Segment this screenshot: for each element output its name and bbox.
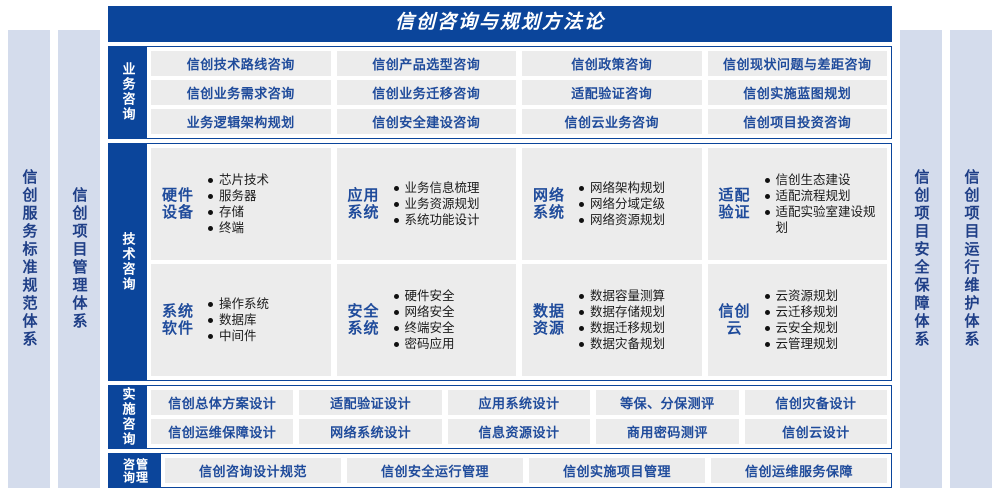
list-item[interactable]: 等保、分保测评 [596,390,738,415]
card-application-system[interactable]: 应用 系统 业务信息梳理 业务资源规划 系统功能设计 [337,148,517,260]
card-title: 信创 云 [714,303,756,338]
bullet-item: 网络安全 [393,304,511,320]
table-row: 业务逻辑架构规划 信创安全建设咨询 信创云业务咨询 信创项目投资咨询 [151,109,887,134]
card-title: 硬件 设备 [157,187,199,222]
pillar-service-standard-system: 信创服务标准规范体系 [8,30,50,488]
list-item[interactable]: 业务逻辑架构规划 [151,109,331,134]
bullet-item: 密码应用 [393,336,511,352]
card-title: 网络 系统 [528,187,570,222]
bullet-item: 硬件安全 [393,288,511,304]
card-system-software[interactable]: 系统 软件 操作系统 数据库 中间件 [151,264,331,376]
card-bullets: 业务信息梳理 业务资源规划 系统功能设计 [393,180,511,228]
bullet-item: 信创生态建设 [764,172,882,188]
card-network-system[interactable]: 网络 系统 网络架构规划 网络分域定级 网络资源规划 [522,148,702,260]
card-title-line1: 网络 [533,187,565,204]
list-item[interactable]: 网络系统设计 [299,419,441,444]
card-title-line2: 系统 [343,204,385,221]
pillar-project-security-system: 信创项目安全保障体系 [900,30,942,488]
bullet-item: 云安全规划 [764,320,882,336]
card-bullets: 硬件安全 网络安全 终端安全 密码应用 [393,288,511,352]
bullet-item: 云迁移规划 [764,304,882,320]
band-label-technical-consulting: 技术咨询 [109,144,147,380]
card-adaptation-verification[interactable]: 适配 验证 信创生态建设 适配流程规划 适配实验室建设规划 [708,148,888,260]
bullet-item: 网络分域定级 [578,196,696,212]
bullet-item: 数据库 [207,312,325,328]
bullet-item: 服务器 [207,188,325,204]
list-item[interactable]: 信创云业务咨询 [522,109,702,134]
list-item[interactable]: 信创运维保障设计 [151,419,293,444]
bullet-item: 数据迁移规划 [578,320,696,336]
band-body-consulting-management: 信创咨询设计规范 信创安全运行管理 信创实施项目管理 信创运维服务保障 [161,454,891,487]
pillar-project-management-system: 信创项目管理体系 [58,30,100,488]
band-business-consulting: 业务咨询 信创技术路线咨询 信创产品选型咨询 信创政策咨询 信创现状问题与差距咨… [108,46,892,139]
list-item[interactable]: 信创云设计 [745,419,887,444]
list-item[interactable]: 适配验证设计 [299,390,441,415]
card-title-line2: 软件 [157,320,199,337]
table-row: 信创运维保障设计 网络系统设计 信息资源设计 商用密码测评 信创云设计 [151,419,887,444]
card-xinchuang-cloud[interactable]: 信创 云 云资源规划 云迁移规划 云安全规划 云管理规划 [708,264,888,376]
band-label-implementation-consulting: 实施咨询 [109,386,147,448]
card-bullets: 芯片技术 服务器 存储 终端 [207,172,325,236]
pillar-label: 信创项目管理体系 [72,187,87,331]
card-data-resource[interactable]: 数据 资源 数据容量测算 数据存储规划 数据迁移规划 数据灾备规划 [522,264,702,376]
bullet-item: 云管理规划 [764,336,882,352]
bullet-item: 适配流程规划 [764,188,882,204]
page-title: 信创咨询与规划方法论 [108,6,892,42]
list-item[interactable]: 信创实施蓝图规划 [708,80,888,105]
list-item[interactable]: 信创灾备设计 [745,390,887,415]
band-body-technical-consulting: 硬件 设备 芯片技术 服务器 存储 终端 应用 系统 [147,144,891,380]
list-item[interactable]: 信创现状问题与差距咨询 [708,51,888,76]
list-item[interactable]: 适配验证咨询 [522,80,702,105]
band-implementation-consulting: 实施咨询 信创总体方案设计 适配验证设计 应用系统设计 等保、分保测评 信创灾备… [108,385,892,449]
card-title-line2: 验证 [714,204,756,221]
bullet-item: 业务信息梳理 [393,180,511,196]
band-label-business-consulting: 业务咨询 [109,47,147,138]
bullet-item: 适配实验室建设规划 [764,204,882,236]
card-bullets: 操作系统 数据库 中间件 [207,296,325,344]
band-label-text-part1: 咨询 [123,458,135,484]
band-body-implementation-consulting: 信创总体方案设计 适配验证设计 应用系统设计 等保、分保测评 信创灾备设计 信创… [147,386,891,448]
card-bullets: 数据容量测算 数据存储规划 数据迁移规划 数据灾备规划 [578,288,696,352]
list-item[interactable]: 信创安全建设咨询 [337,109,517,134]
card-hardware-device[interactable]: 硬件 设备 芯片技术 服务器 存储 终端 [151,148,331,260]
card-bullets: 网络架构规划 网络分域定级 网络资源规划 [578,180,696,228]
band-label-text: 技术咨询 [122,232,135,292]
list-item[interactable]: 商用密码测评 [596,419,738,444]
band-label-text: 业务咨询 [122,62,135,122]
list-item[interactable]: 信创政策咨询 [522,51,702,76]
card-title: 数据 资源 [528,303,570,338]
pillar-project-ops-system: 信创项目运行维护体系 [950,30,992,488]
card-title-line2: 设备 [157,204,199,221]
bullet-item: 云资源规划 [764,288,882,304]
card-title-line2: 系统 [343,320,385,337]
card-title-line2: 云 [714,320,756,337]
list-item[interactable]: 信创项目投资咨询 [708,109,888,134]
card-title-line2: 系统 [528,204,570,221]
card-title-line1: 适配 [718,187,750,204]
bullet-item: 存储 [207,204,325,220]
band-label-text-part2: 管理 [136,458,148,484]
bullet-item: 网络资源规划 [578,212,696,228]
list-item[interactable]: 信息资源设计 [448,419,590,444]
bullet-item: 芯片技术 [207,172,325,188]
table-row: 信创技术路线咨询 信创产品选型咨询 信创政策咨询 信创现状问题与差距咨询 [151,51,887,76]
card-title: 系统 软件 [157,303,199,338]
list-item[interactable]: 应用系统设计 [448,390,590,415]
pillar-label: 信创服务标准规范体系 [22,169,37,349]
bullet-item: 系统功能设计 [393,212,511,228]
card-title: 适配 验证 [714,187,756,222]
card-title-line1: 信创 [718,303,750,320]
bullet-item: 终端 [207,220,325,236]
bullet-item: 数据灾备规划 [578,336,696,352]
pillar-label: 信创项目安全保障体系 [914,169,929,349]
center-column: 信创咨询与规划方法论 业务咨询 信创技术路线咨询 信创产品选型咨询 信创政策咨询… [108,6,892,488]
list-item[interactable]: 信创业务迁移咨询 [337,80,517,105]
card-title: 应用 系统 [343,187,385,222]
bullet-item: 数据存储规划 [578,304,696,320]
card-title-line1: 数据 [533,303,565,320]
list-item[interactable]: 信创咨询设计规范 [165,458,341,483]
list-item[interactable]: 信创运维服务保障 [711,458,887,483]
table-row: 硬件 设备 芯片技术 服务器 存储 终端 应用 系统 [151,148,887,260]
band-consulting-management: 咨询 管理 信创咨询设计规范 信创安全运行管理 信创实施项目管理 信创运维服务保… [108,453,892,488]
card-title-line1: 应用 [347,187,379,204]
card-title-line1: 系统 [162,303,194,320]
band-label-text: 实施咨询 [122,387,135,447]
pillar-label: 信创项目运行维护体系 [964,169,979,349]
bullet-item: 中间件 [207,328,325,344]
bullet-item: 终端安全 [393,320,511,336]
table-row: 信创咨询设计规范 信创安全运行管理 信创实施项目管理 信创运维服务保障 [165,458,887,483]
card-title-line2: 资源 [528,320,570,337]
list-item[interactable]: 信创安全运行管理 [347,458,523,483]
card-title: 安全 系统 [343,303,385,338]
list-item[interactable]: 信创业务需求咨询 [151,80,331,105]
table-row: 信创业务需求咨询 信创业务迁移咨询 适配验证咨询 信创实施蓝图规划 [151,80,887,105]
card-title-line1: 安全 [347,303,379,320]
list-item[interactable]: 信创实施项目管理 [529,458,705,483]
bullet-item: 操作系统 [207,296,325,312]
bullet-item: 业务资源规划 [393,196,511,212]
list-item[interactable]: 信创总体方案设计 [151,390,293,415]
table-row: 系统 软件 操作系统 数据库 中间件 安全 系统 [151,264,887,376]
card-security-system[interactable]: 安全 系统 硬件安全 网络安全 终端安全 密码应用 [337,264,517,376]
card-title-line1: 硬件 [162,187,194,204]
bullet-item: 网络架构规划 [578,180,696,196]
band-body-business-consulting: 信创技术路线咨询 信创产品选型咨询 信创政策咨询 信创现状问题与差距咨询 信创业… [147,47,891,138]
bullet-item: 数据容量测算 [578,288,696,304]
band-technical-consulting: 技术咨询 硬件 设备 芯片技术 服务器 存储 终端 [108,143,892,381]
list-item[interactable]: 信创产品选型咨询 [337,51,517,76]
diagram-root: 信创服务标准规范体系 信创项目管理体系 信创咨询与规划方法论 业务咨询 信创技术… [0,0,1000,496]
list-item[interactable]: 信创技术路线咨询 [151,51,331,76]
band-label-consulting-management: 咨询 管理 [109,454,161,487]
table-row: 信创总体方案设计 适配验证设计 应用系统设计 等保、分保测评 信创灾备设计 [151,390,887,415]
card-bullets: 信创生态建设 适配流程规划 适配实验室建设规划 [764,172,882,236]
card-bullets: 云资源规划 云迁移规划 云安全规划 云管理规划 [764,288,882,352]
